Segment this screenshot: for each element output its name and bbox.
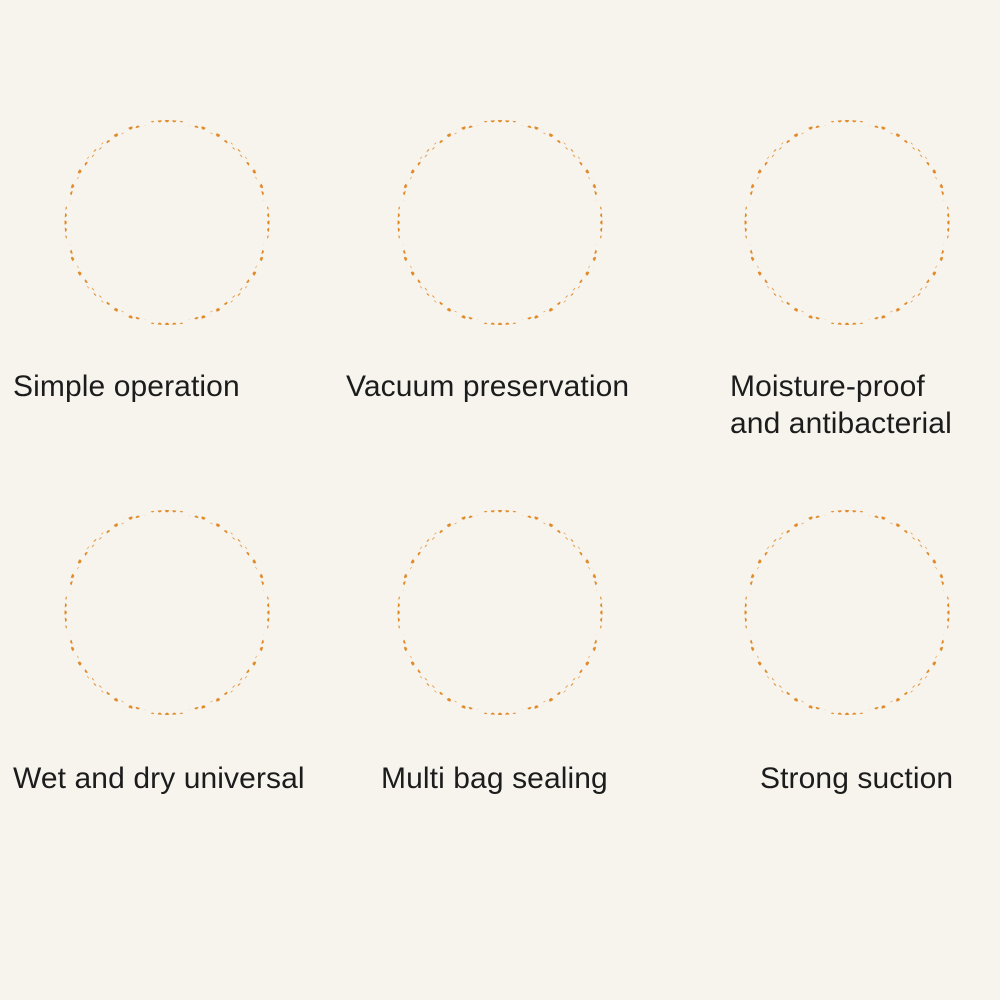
- features-grid: Simple operation: [0, 0, 1000, 1000]
- feature-label: Strong suction: [680, 760, 1000, 797]
- touch-hand-icon: [112, 168, 222, 278]
- sun-cloud-icon: [112, 558, 222, 668]
- feature-label: Multi bag sealing: [333, 760, 666, 797]
- feature-card-simple-operation[interactable]: Simple operation: [0, 120, 333, 520]
- sealing-bars-icon: [445, 558, 555, 668]
- feature-label: Wet and dry universal: [0, 760, 333, 797]
- dotted-circle-frame: [744, 510, 949, 715]
- roast-chicken-icon: [445, 168, 555, 278]
- dotted-circle-frame: [64, 510, 269, 715]
- dotted-circle-frame: [64, 120, 269, 325]
- feature-label: Moisture-proof and antibacterial: [680, 368, 1000, 442]
- feature-card-strong-suction[interactable]: Strong suction: [680, 510, 1000, 910]
- feature-label: Simple operation: [0, 368, 333, 405]
- fan-propeller-icon: [792, 558, 902, 668]
- feature-card-vacuum-preservation[interactable]: Vacuum preservation: [333, 120, 666, 520]
- virus-icon: [792, 168, 902, 278]
- feature-card-multi-bag-sealing[interactable]: Multi bag sealing: [333, 510, 666, 910]
- dotted-circle-frame: [397, 120, 602, 325]
- feature-label: Vacuum preservation: [333, 368, 666, 405]
- feature-card-wet-and-dry-universal[interactable]: Wet and dry universal: [0, 510, 333, 910]
- feature-card-moisture-proof-antibacterial[interactable]: Moisture-proof and antibacterial: [680, 120, 1000, 520]
- dotted-circle-frame: [744, 120, 949, 325]
- dotted-circle-frame: [397, 510, 602, 715]
